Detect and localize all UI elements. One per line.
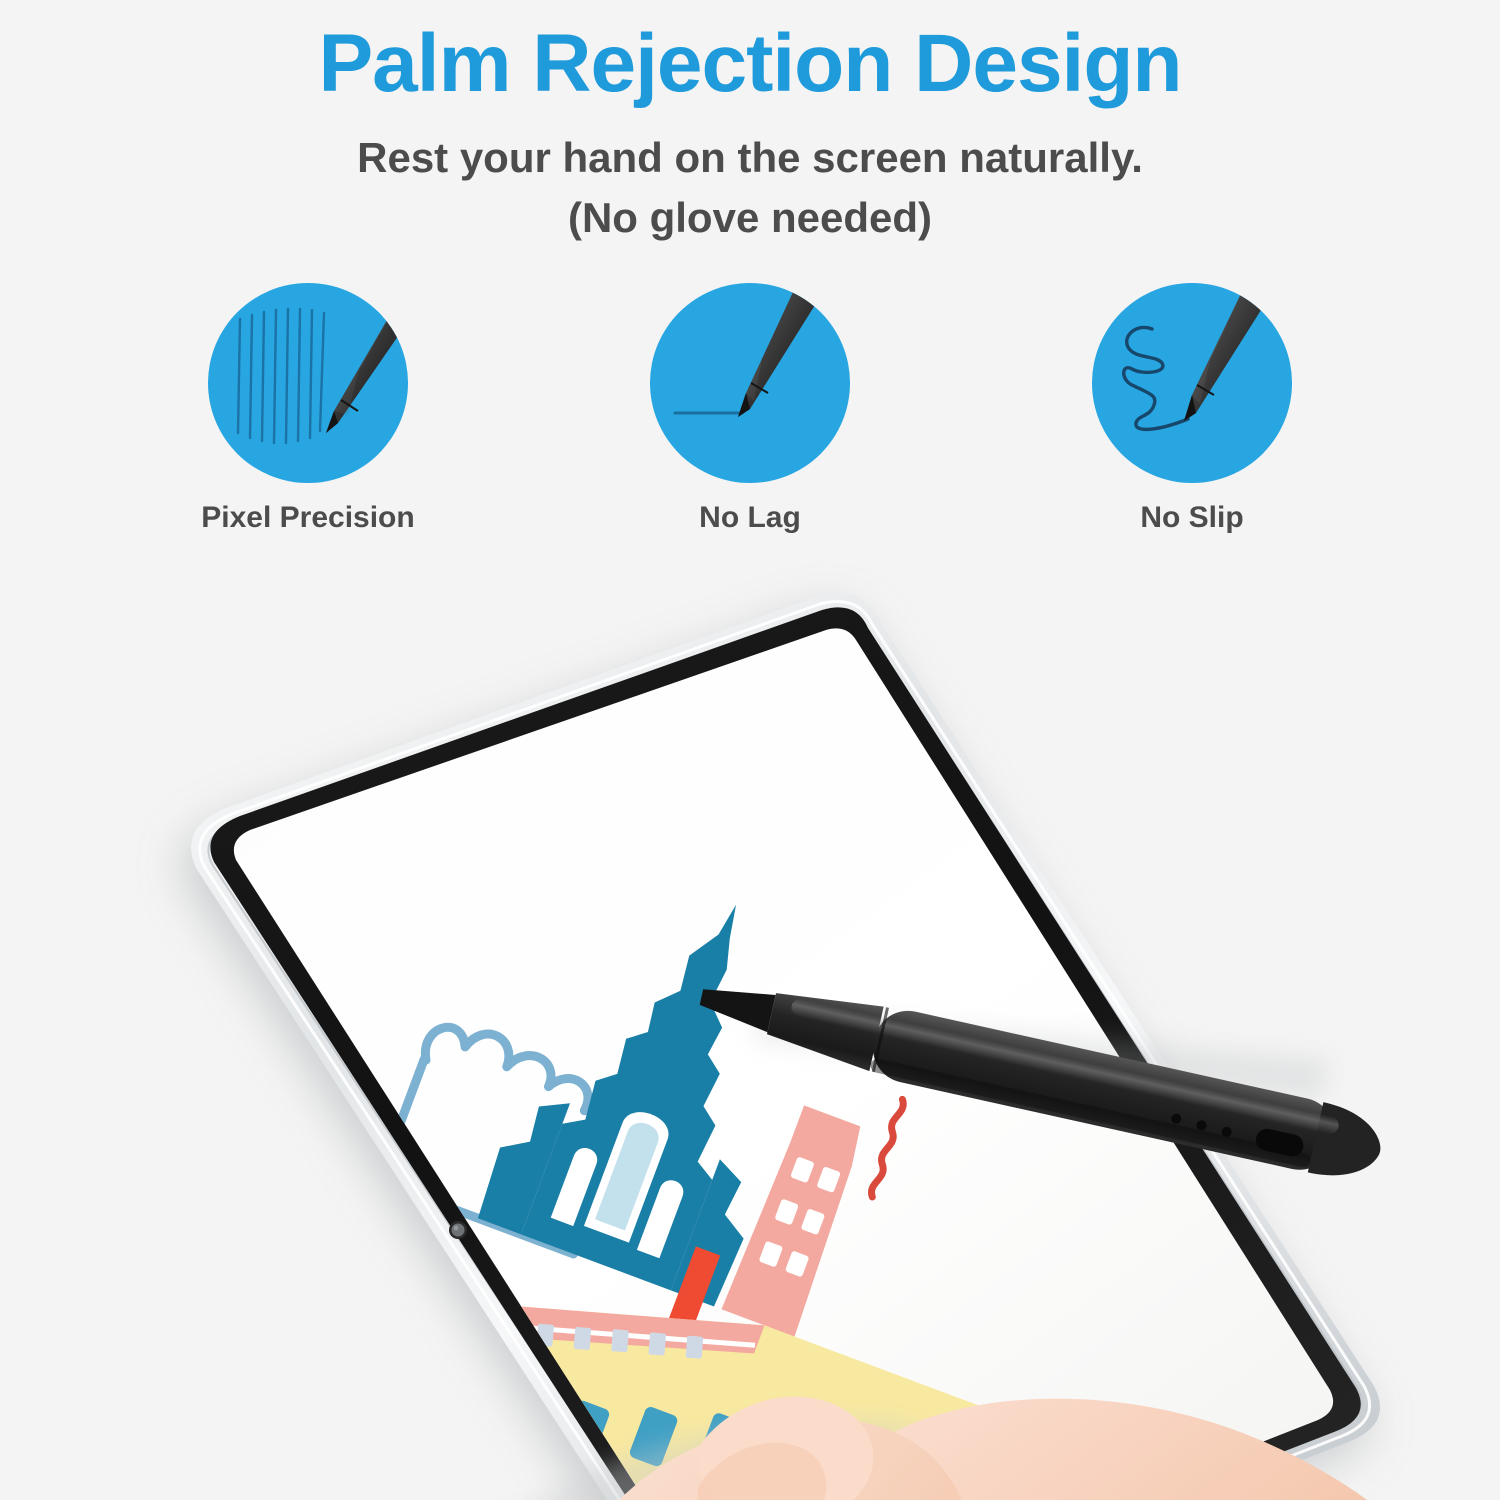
feature-label: No Slip	[1045, 501, 1340, 535]
subtitle-line-2: (No glove needed)	[0, 188, 1500, 248]
product-feature-graphic: Palm Rejection Design Rest your hand on …	[0, 0, 1500, 1500]
feature-label: No Lag	[603, 501, 898, 535]
feature-item-pixel-precision: Pixel Precision	[161, 283, 456, 535]
feature-label: Pixel Precision	[161, 501, 456, 535]
feature-item-no-slip: No Slip	[1045, 283, 1340, 535]
stylus-fine-lines-icon	[208, 283, 408, 483]
subtitle-line-1: Rest your hand on the screen naturally.	[357, 134, 1143, 181]
feature-item-no-lag: No Lag	[603, 283, 898, 535]
stylus-straight-line-icon	[650, 283, 850, 483]
page-title: Palm Rejection Design	[0, 22, 1500, 106]
page-subtitle: Rest your hand on the screen naturally. …	[0, 128, 1500, 247]
stylus-zigzag-line-icon	[1092, 283, 1292, 483]
tablet-photo-scene	[0, 540, 1500, 1500]
feature-list: Pixel Precision	[0, 283, 1500, 535]
front-camera-dot	[449, 1221, 467, 1239]
